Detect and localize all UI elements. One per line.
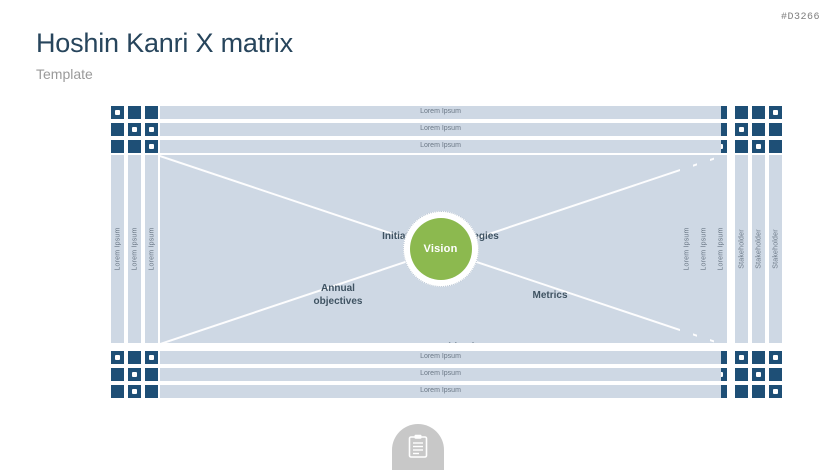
correlation-cell-bottom-right-stakeholders-r2c1[interactable] (735, 368, 748, 381)
bottom-row-label-3[interactable]: Lorem Ipsum (160, 385, 721, 398)
top-row-label-2[interactable]: Lorem Ipsum (160, 123, 721, 136)
correlation-dot (149, 355, 154, 360)
correlation-dot (739, 355, 744, 360)
correlation-cell-bottom-left-r1c2[interactable] (128, 351, 141, 364)
label-annual-objectives-line2: objectives (278, 295, 398, 308)
label-metrics: Metrics (490, 289, 610, 302)
correlation-cell-bottom-left-r2c1[interactable] (111, 368, 124, 381)
vision-label: Vision (423, 243, 457, 255)
correlation-cell-top-left-r1c2[interactable] (128, 106, 141, 119)
correlation-cell-bottom-right-stakeholders-r2c3[interactable] (769, 368, 782, 381)
correlation-cell-bottom-left-r3c2[interactable] (128, 385, 141, 398)
correlation-dot (149, 127, 154, 132)
correlation-cell-bottom-left-r1c3[interactable] (145, 351, 158, 364)
correlation-dot (756, 144, 761, 149)
right-stakeholder-column-label-2[interactable]: Stakeholder (752, 155, 765, 343)
left-column-label-2-text: Lorem Ipsum (131, 227, 138, 270)
right-stakeholder-column-label-1[interactable]: Stakeholder (735, 155, 748, 343)
left-column-label-1-text: Lorem Ipsum (114, 227, 121, 270)
correlation-cell-top-right-stakeholders-r2c3[interactable] (769, 123, 782, 136)
right-stakeholder-column-label-1-text: Stakeholder (738, 229, 745, 269)
correlation-cell-bottom-left-r3c3[interactable] (145, 385, 158, 398)
vision-circle-ring: Vision (403, 211, 479, 287)
correlation-dot (149, 144, 154, 149)
bottom-row-label-1[interactable]: Lorem Ipsum (160, 351, 721, 364)
correlation-cell-bottom-left-r3c1[interactable] (111, 385, 124, 398)
correlation-cell-bottom-left-r1c1[interactable] (111, 351, 124, 364)
bottom-row-label-2[interactable]: Lorem Ipsum (160, 368, 721, 381)
correlation-cell-top-right-stakeholders-r2c1[interactable] (735, 123, 748, 136)
top-row-label-3[interactable]: Lorem Ipsum (160, 140, 721, 153)
label-annual-objectives: Annual objectives (278, 282, 398, 308)
correlation-cell-bottom-right-stakeholders-r3c3[interactable] (769, 385, 782, 398)
correlation-dot (132, 127, 137, 132)
correlation-cell-top-left-r2c2[interactable] (128, 123, 141, 136)
correlation-cell-top-right-stakeholders-r3c2[interactable] (752, 140, 765, 153)
correlation-cell-top-right-stakeholders-r1c2[interactable] (752, 106, 765, 119)
left-column-label-3[interactable]: Lorem Ipsum (145, 155, 158, 343)
correlation-dot (739, 127, 744, 132)
label-long-term-objectives-line1: Long-term objectives (160, 341, 721, 343)
correlation-cell-top-right-stakeholders-r3c3[interactable] (769, 140, 782, 153)
label-long-term-objectives: Long-term objectives (3-5 years) (160, 341, 721, 343)
correlation-cell-top-left-r3c1[interactable] (111, 140, 124, 153)
correlation-cell-top-right-stakeholders-r2c2[interactable] (752, 123, 765, 136)
document-code: #D3266 (781, 12, 820, 23)
correlation-cell-top-left-r1c3[interactable] (145, 106, 158, 119)
correlation-dot (756, 372, 761, 377)
correlation-cell-top-left-r1c1[interactable] (111, 106, 124, 119)
correlation-cell-top-right-stakeholders-r1c3[interactable] (769, 106, 782, 119)
correlation-cell-top-right-stakeholders-r3c1[interactable] (735, 140, 748, 153)
correlation-cell-top-right-stakeholders-r1c1[interactable] (735, 106, 748, 119)
correlation-dot (132, 372, 137, 377)
right-metrics-column-label-2-text: Lorem Ipsum (700, 227, 707, 270)
correlation-cell-top-left-r2c3[interactable] (145, 123, 158, 136)
right-stakeholder-column-label-3-text: Stakeholder (772, 229, 779, 269)
center-panel: Initiatives and strategies Annual object… (160, 155, 721, 343)
correlation-dot (115, 110, 120, 115)
top-row-label-1[interactable]: Lorem Ipsum (160, 106, 721, 119)
right-metrics-column-label-3-text: Lorem Ipsum (717, 227, 724, 270)
vision-circle[interactable]: Vision (410, 218, 472, 280)
right-metrics-column-label-1[interactable]: Lorem Ipsum (680, 155, 693, 343)
left-column-label-1[interactable]: Lorem Ipsum (111, 155, 124, 343)
correlation-cell-bottom-right-stakeholders-r3c2[interactable] (752, 385, 765, 398)
clipboard-icon (408, 434, 428, 459)
correlation-cell-bottom-right-stakeholders-r3c1[interactable] (735, 385, 748, 398)
correlation-dot (773, 355, 778, 360)
correlation-cell-bottom-right-stakeholders-r1c1[interactable] (735, 351, 748, 364)
correlation-dot (773, 110, 778, 115)
correlation-cell-top-left-r3c3[interactable] (145, 140, 158, 153)
left-column-label-2[interactable]: Lorem Ipsum (128, 155, 141, 343)
right-stakeholder-column-label-2-text: Stakeholder (755, 229, 762, 269)
right-metrics-column-label-2[interactable]: Lorem Ipsum (697, 155, 710, 343)
right-stakeholder-column-label-3[interactable]: Stakeholder (769, 155, 782, 343)
label-annual-objectives-line1: Annual (278, 282, 398, 295)
correlation-dot (773, 389, 778, 394)
correlation-cell-top-left-r2c1[interactable] (111, 123, 124, 136)
correlation-cell-bottom-right-stakeholders-r2c2[interactable] (752, 368, 765, 381)
correlation-cell-bottom-left-r2c2[interactable] (128, 368, 141, 381)
correlation-cell-top-left-r3c2[interactable] (128, 140, 141, 153)
correlation-dot (115, 355, 120, 360)
hoshin-kanri-matrix: Initiatives and strategies Annual object… (111, 106, 770, 392)
left-column-label-3-text: Lorem Ipsum (148, 227, 155, 270)
correlation-cell-bottom-left-r2c3[interactable] (145, 368, 158, 381)
correlation-cell-bottom-right-stakeholders-r1c3[interactable] (769, 351, 782, 364)
document-badge[interactable] (392, 424, 444, 470)
right-metrics-column-label-1-text: Lorem Ipsum (683, 227, 690, 270)
page-subtitle: Template (36, 66, 93, 82)
page-title: Hoshin Kanri X matrix (36, 28, 293, 59)
correlation-dot (132, 389, 137, 394)
correlation-cell-bottom-right-stakeholders-r1c2[interactable] (752, 351, 765, 364)
right-metrics-column-label-3[interactable]: Lorem Ipsum (714, 155, 727, 343)
